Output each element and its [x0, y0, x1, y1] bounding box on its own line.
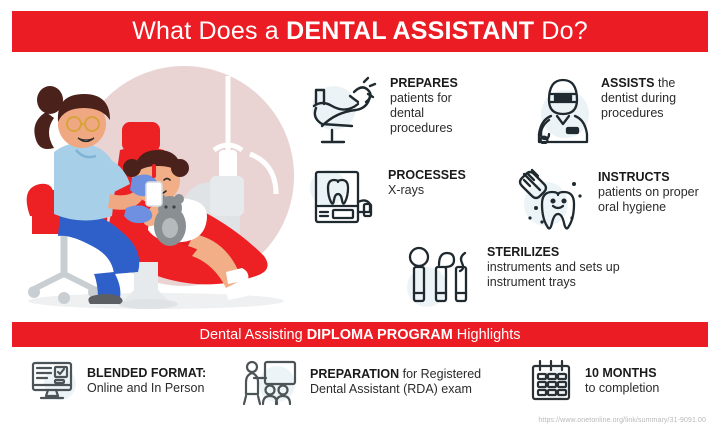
duty-text-processes: PROCESSESX-rays: [388, 166, 483, 198]
duty-item-prepares: PREPARESpatients for dental procedures: [308, 74, 485, 152]
duty-body-instructs: patients on proper oral hygiene: [598, 185, 699, 214]
duty-body-sterilizes: instruments and sets up instrument trays: [487, 260, 620, 289]
header-banner: What Does a DENTAL ASSISTANT Do?: [12, 11, 708, 52]
highlight-item-duration: 10 MONTHSto completion: [528, 358, 695, 404]
source-url: https://www.onetonline.org/link/summary/…: [0, 417, 706, 424]
page-title: What Does a DENTAL ASSISTANT Do?: [132, 17, 588, 46]
duty-body-prepares: patients for dental procedures: [390, 91, 453, 135]
highlight-text-duration: 10 MONTHSto completion: [585, 366, 695, 397]
highlight-heading-format: BLENDED FORMAT:: [87, 366, 206, 380]
xray-tooth-icon: [308, 166, 376, 232]
highlight-item-format: BLENDED FORMAT:Online and In Person: [28, 358, 237, 404]
calendar-icon: [528, 358, 574, 404]
duty-item-assists: ASSISTS the dentist during procedures: [533, 74, 711, 144]
highlight-body-format: Online and In Person: [87, 381, 204, 395]
header-title-plain-2: Do?: [534, 17, 588, 45]
dental-chair-icon: [308, 74, 378, 152]
duty-heading-prepares: PREPARES: [390, 76, 458, 90]
program-banner-title: Dental Assisting DIPLOMA PROGRAM Highlig…: [200, 327, 521, 343]
highlight-heading-preparation: PREPARATION: [310, 367, 399, 381]
header-title-plain-1: What Does a: [132, 17, 286, 45]
infographic-root: What Does a DENTAL ASSISTANT Do?: [0, 0, 720, 437]
header-title-emphasis: DENTAL ASSISTANT: [286, 17, 534, 45]
duty-item-processes: PROCESSESX-rays: [308, 166, 483, 232]
program-title-emphasis: DIPLOMA PROGRAM: [307, 327, 453, 343]
dental-assistant-with-child-patient-illustration: [14, 58, 294, 313]
instructor-whiteboard-icon: [243, 358, 299, 406]
highlight-item-preparation: PREPARATION for Registered Dental Assist…: [243, 358, 510, 406]
duty-heading-sterilizes: STERILIZES: [487, 245, 559, 259]
duty-heading-instructs: INSTRUCTS: [598, 170, 670, 184]
dental-assistant-person-icon: [533, 74, 591, 144]
program-title-plain-1: Dental Assisting: [200, 327, 307, 343]
duty-item-instructs: INSTRUCTSpatients on proper oral hygiene: [516, 168, 703, 234]
duty-text-instructs: INSTRUCTSpatients on proper oral hygiene: [598, 168, 703, 215]
duty-text-prepares: PREPARESpatients for dental procedures: [390, 74, 485, 136]
duty-heading-processes: PROCESSES: [388, 168, 466, 182]
program-title-plain-2: Highlights: [453, 327, 521, 343]
duty-heading-assists: ASSISTS: [601, 76, 655, 90]
highlight-text-preparation: PREPARATION for Registered Dental Assist…: [310, 367, 510, 398]
highlight-heading-duration: 10 MONTHS: [585, 366, 657, 380]
highlight-body-duration: to completion: [585, 381, 659, 395]
duty-text-sterilizes: STERILIZESinstruments and sets up instru…: [487, 243, 647, 290]
duty-text-assists: ASSISTS the dentist during procedures: [601, 74, 711, 121]
duty-body-processes: X-rays: [388, 183, 424, 197]
highlight-text-format: BLENDED FORMAT:Online and In Person: [87, 366, 237, 397]
duty-item-sterilizes: STERILIZESinstruments and sets up instru…: [405, 243, 647, 309]
toothbrush-tooth-icon: [516, 168, 588, 234]
dental-instruments-icon: [405, 243, 475, 309]
computer-monitor-icon: [28, 358, 76, 404]
program-highlights-banner: Dental Assisting DIPLOMA PROGRAM Highlig…: [12, 322, 708, 347]
